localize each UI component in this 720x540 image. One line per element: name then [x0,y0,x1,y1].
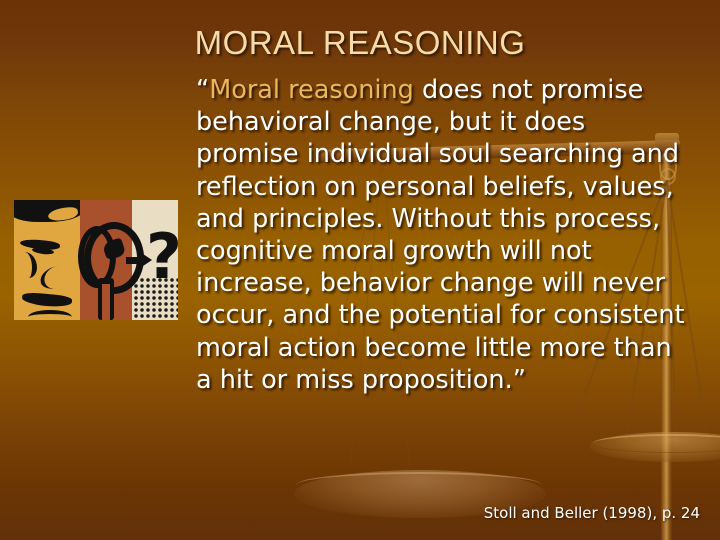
face-mouth-icon [22,292,73,308]
page-title: MORAL REASONING [0,24,720,62]
quote-body: “Moral reasoning does not promise behavi… [196,74,688,396]
face-chin-icon [28,310,72,320]
scale-pan-left-rim [296,472,542,498]
face-cheek-icon [38,263,75,291]
quote-highlight: Moral reasoning [209,75,414,105]
magnifier-handle-inner-icon [102,284,110,320]
slide-canvas: MORAL REASONING ? “Moral reasoning does … [0,0,720,540]
popart-illustration: ? [14,200,178,320]
quote-open-mark: “ [196,75,209,105]
face-nose-icon [16,252,37,278]
scale-pan-right-rim [592,434,720,453]
halftone-dots-pattern [134,278,178,320]
quote-rest: does not promise behavioral change, but … [196,75,685,395]
scale-pan-right [590,432,720,462]
popart-face-panel [14,200,80,320]
citation-text: Stoll and Beller (1998), p. 24 [380,504,700,522]
